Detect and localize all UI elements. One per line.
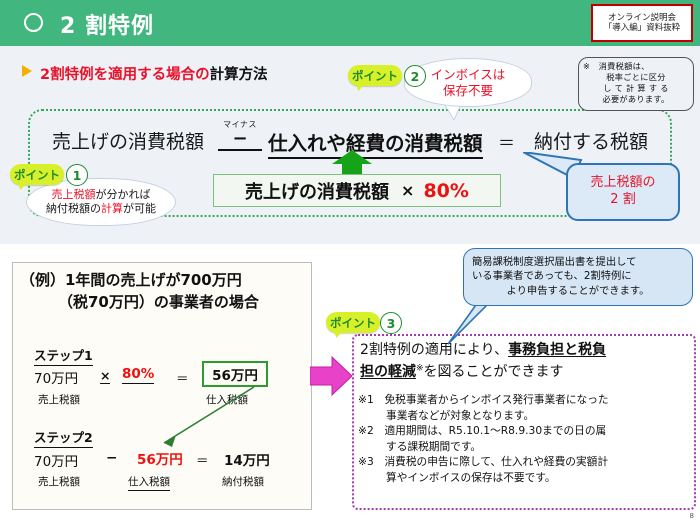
point1-line2-b: が可能 (123, 202, 156, 215)
simplified-tax-note-line2: いる事業者であっても、2割特例に (472, 269, 684, 283)
badge-line-1: オンライン説明会 (608, 13, 676, 23)
benefit-note-2-marker: ※2 (358, 424, 374, 437)
point1-bubble: 売上税額が分かれば 納付税額の計算が可能 (26, 178, 176, 226)
benefit-line2-ref: ※ (416, 363, 424, 373)
benefit-line2-plain: を図ることができます (424, 364, 564, 380)
step1-rate: 80% (122, 366, 154, 384)
simplified-tax-note-line1: 簡易課税制度選択届出書を提出して (472, 255, 684, 269)
benefit-note-3-marker: ※3 (358, 455, 374, 468)
step1-result-box: 56万円 (202, 361, 268, 387)
step2-label: ステップ2 (34, 427, 93, 448)
tax-rate-note: ※ 消費税額は、 税率ごとに区分 し て 計 算 す る 必要があります。 (578, 57, 694, 111)
percent-value: 80% (423, 180, 468, 202)
benefit-note-2-text: 適用期間は、R5.10.1～R8.9.30までの日の属 (384, 424, 606, 437)
formula-purchase-tax: 仕入れや経費の消費税額 (268, 127, 483, 159)
step2-caption-result: 納付税額 (222, 474, 264, 489)
formula-payable-tax: 納付する税額 (534, 127, 648, 154)
step1-result: 56万円 (212, 364, 258, 384)
blue-callout-line2: 2 割 (610, 192, 635, 209)
point2-line2: 保存不要 (443, 83, 493, 99)
slide-header: 2 割特例 オンライン説明会 「導入編」資料抜粋 (0, 0, 700, 46)
point1-line1-red: 売上税額 (52, 188, 96, 201)
step2-caption-b: 仕入税額 (128, 474, 170, 491)
tax-rate-note-line3: し て 計 算 す る (583, 83, 689, 94)
page-title: 2 割特例 (60, 8, 154, 40)
benefit-note-1-text: 免税事業者からインボイス発行事業者になった (384, 393, 608, 406)
step2-equals: ＝ (196, 450, 209, 469)
benefit-note-1-marker: ※1 (358, 393, 374, 406)
step1-operand-a: 70万円 (34, 367, 78, 387)
circle-outline-icon (24, 13, 43, 32)
benefit-note-3-text: 消費税の申告に際して、仕入れや経費の実額計 (384, 455, 608, 468)
status-badge: オンライン説明会 「導入編」資料抜粋 (591, 4, 693, 42)
step1-operator: × (100, 368, 110, 384)
section-title-black: 計算方法 (210, 67, 268, 83)
benefit-line1: 2割特例の適用により、事務負担と税負 (360, 340, 690, 362)
bubble-tail-blue-note (448, 300, 494, 346)
step1-label: ステップ1 (34, 345, 93, 366)
benefit-line2: 担の軽減※を図ることができます (360, 362, 690, 384)
benefit-note-2-line1: ※2 適用期間は、R5.10.1～R8.9.30までの日の属 (358, 423, 694, 439)
benefit-main-text: 2割特例の適用により、事務負担と税負 担の軽減※を図ることができます (360, 340, 690, 383)
formula-minus-group: マイナス − (218, 121, 262, 151)
point1-badge: ポイント (10, 164, 64, 185)
point2-number: 2 (404, 65, 426, 87)
point1-badge-label: ポイント (14, 167, 60, 183)
benefit-note-3-line2: 算やインボイスの保存は不要です。 (358, 470, 694, 486)
section-title: 2割特例を適用する場合の計算方法 (40, 63, 268, 84)
point1-number: 1 (66, 164, 88, 186)
point1-line2: 納付税額の計算が可能 (46, 202, 156, 216)
benefit-note-1-line2: 事業者などが対象となります。 (358, 408, 694, 424)
point3-badge-label: ポイント (330, 315, 376, 331)
tax-rate-note-line4: 必要があります。 (583, 94, 689, 105)
point3-number: 3 (380, 312, 402, 334)
benefit-note-1-line1: ※1 免税事業者からインボイス発行事業者になった (358, 392, 694, 408)
example-title-line2: （税70万円）の事業者の場合 (20, 292, 310, 314)
point1-line1: 売上税額が分かれば (52, 188, 151, 202)
example-title: （例）1年間の売上げが700万円 （税70万円）の事業者の場合 (20, 270, 310, 314)
point1-line1-rest: が分かれば (96, 188, 151, 201)
tax-rate-note-line1: ※ 消費税額は、 (583, 61, 689, 72)
badge-line-2: 「導入編」資料抜粋 (604, 23, 681, 33)
example-title-line1: （例）1年間の売上げが700万円 (20, 270, 310, 292)
formula-sales-tax: 売上げの消費税額 (52, 127, 204, 154)
point1-line2-red: 計算 (101, 202, 123, 215)
step2-operand-b: 56万円 (137, 448, 183, 468)
simplified-tax-note-line3: より申告することができます。 (472, 284, 684, 298)
step2-result: 14万円 (224, 449, 270, 469)
arrow-right-icon (310, 355, 352, 397)
step1-caption-a: 売上税額 (38, 392, 80, 407)
formula-minus-sign: − (218, 130, 262, 151)
benefit-line1-underlined: 事務負担と税負 (508, 342, 606, 358)
step2-operand-a: 70万円 (34, 450, 78, 470)
benefit-line2-underlined: 担の軽減 (360, 364, 416, 380)
section-title-red: 2割特例を適用する場合の (40, 67, 210, 83)
point2-badge: ポイント (348, 65, 402, 86)
percent-left-term: 売上げの消費税額 (245, 178, 389, 204)
percent-times-sign: × (401, 181, 414, 200)
benefit-note-2-line2: する課税期間です。 (358, 439, 694, 455)
tax-rate-note-line2: 税率ごとに区分 (583, 72, 689, 83)
slide-root: 2 割特例 オンライン説明会 「導入編」資料抜粋 2割特例を適用する場合の計算方… (0, 0, 700, 522)
simplified-tax-note: 簡易課税制度選択届出書を提出して いる事業者であっても、2割特例に より申告する… (463, 248, 693, 306)
step2-caption-a: 売上税額 (38, 474, 80, 489)
point1-line2-a: 納付税額の (46, 202, 101, 215)
blue-callout-line1: 売上税額の (590, 175, 655, 192)
green-connector-arrow (150, 385, 260, 453)
benefit-notes: ※1 免税事業者からインボイス発行事業者になった 事業者などが対象となります。 … (358, 392, 694, 485)
point2-line1: インボイスは (431, 67, 506, 83)
page-number: 8 (690, 512, 694, 520)
step2-operator: − (106, 450, 117, 466)
benefit-note-3-line1: ※3 消費税の申告に際して、仕入れや経費の実額計 (358, 454, 694, 470)
triangle-right-icon (22, 65, 32, 77)
formula-equals: ＝ (498, 129, 515, 154)
blue-callout-sales-20pct: 売上税額の 2 割 (566, 163, 680, 221)
percent-formula-box: 売上げの消費税額 × 80% (213, 174, 501, 207)
point2-badge-label: ポイント (352, 68, 398, 84)
point3-badge: ポイント (326, 312, 380, 333)
